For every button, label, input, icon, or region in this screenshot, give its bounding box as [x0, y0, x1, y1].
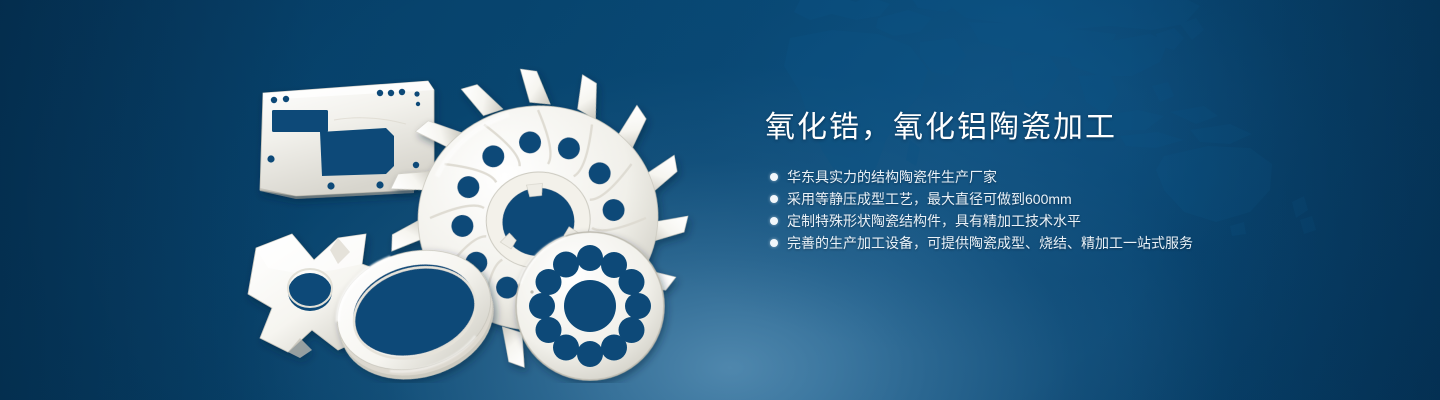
bullet-dot-icon	[770, 195, 778, 203]
feature-text: 定制特殊形状陶瓷结构件，具有精加工技术水平	[787, 210, 1081, 232]
feature-text: 华东具实力的结构陶瓷件生产厂家	[787, 166, 997, 188]
list-item: 华东具实力的结构陶瓷件生产厂家	[765, 166, 1385, 188]
bullet-dot-icon	[770, 173, 778, 181]
feature-list: 华东具实力的结构陶瓷件生产厂家 采用等静压成型工艺，最大直径可做到600mm 定…	[765, 166, 1385, 254]
bullet-dot-icon	[770, 217, 778, 225]
banner-copy: 氧化锆，氧化铝陶瓷加工 华东具实力的结构陶瓷件生产厂家 采用等静压成型工艺，最大…	[765, 108, 1385, 254]
hero-banner: 氧化锆，氧化铝陶瓷加工 华东具实力的结构陶瓷件生产厂家 采用等静压成型工艺，最大…	[0, 0, 1440, 400]
list-item: 采用等静压成型工艺，最大直径可做到600mm	[765, 188, 1385, 210]
ceramic-flange-12-hole	[516, 232, 664, 380]
ceramic-parts-photo-group	[238, 38, 708, 383]
page-title: 氧化锆，氧化铝陶瓷加工	[765, 108, 1385, 148]
feature-text: 采用等静压成型工艺，最大直径可做到600mm	[787, 188, 1072, 210]
list-item: 完善的生产加工设备，可提供陶瓷成型、烧结、精加工一站式服务	[765, 232, 1385, 254]
list-item: 定制特殊形状陶瓷结构件，具有精加工技术水平	[765, 210, 1385, 232]
bullet-dot-icon	[770, 239, 778, 247]
feature-text: 完善的生产加工设备，可提供陶瓷成型、烧结、精加工一站式服务	[787, 232, 1193, 254]
